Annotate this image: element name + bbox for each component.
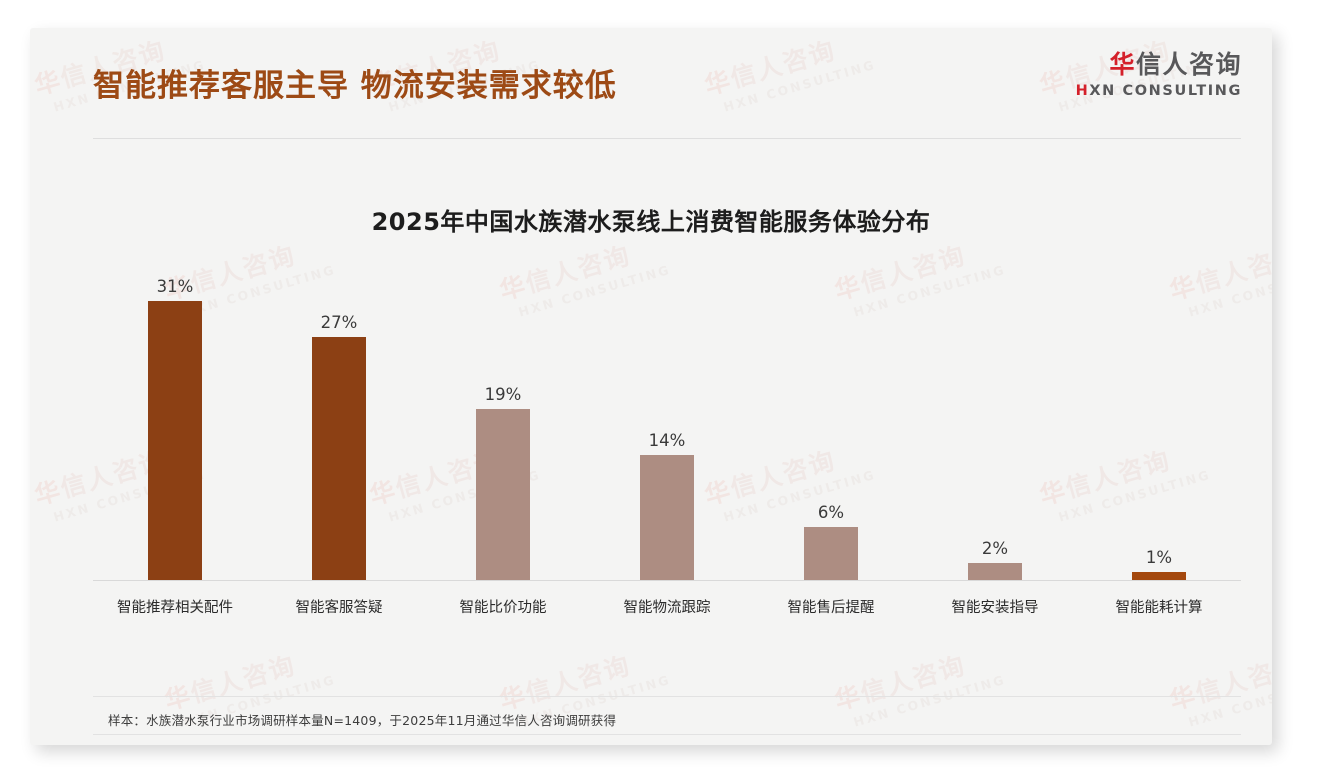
bar-value-label: 6%: [818, 503, 844, 522]
bar-value-label: 31%: [157, 277, 194, 296]
x-axis-tick-label: 智能安装指导: [952, 596, 1039, 617]
footnote-divider: [93, 696, 1241, 697]
logo-chinese: 华信人咨询: [1076, 52, 1242, 77]
x-axis-tick-label: 智能售后提醒: [788, 596, 875, 617]
header-divider: [93, 138, 1241, 139]
slide-footer: ©2026.1 HXR华信人咨询 www.hxrcon.com: [93, 740, 1241, 745]
chart-bar[interactable]: 6%: [804, 527, 858, 581]
x-axis-tick-label: 智能能耗计算: [1116, 596, 1203, 617]
bar-slot: 19%智能比价功能: [421, 274, 585, 581]
bar-slot: 6%智能售后提醒: [749, 274, 913, 581]
footer-divider: [93, 734, 1241, 735]
bar-chart: 31%智能推荐相关配件27%智能客服答疑19%智能比价功能14%智能物流跟踪6%…: [93, 274, 1241, 624]
chart-bar[interactable]: 19%: [476, 409, 530, 581]
bar-slot: 2%智能安装指导: [913, 274, 1077, 581]
bar-value-label: 14%: [649, 431, 686, 450]
chart-bar[interactable]: 31%: [148, 301, 202, 581]
chart-bar[interactable]: 27%: [312, 337, 366, 581]
bar-value-label: 19%: [485, 385, 522, 404]
bar-value-label: 2%: [982, 539, 1008, 558]
chart-title: 2025年中国水族潜水泵线上消费智能服务体验分布: [30, 202, 1272, 237]
bar-slot: 27%智能客服答疑: [257, 274, 421, 581]
sample-note: 样本：水族潜水泵行业市场调研样本量N=1409，于2025年11月通过华信人咨询…: [108, 710, 616, 729]
logo-cn-rest: 信人咨询: [1136, 50, 1242, 79]
slide-header: 智能推荐客服主导 物流安装需求较低 华信人咨询 HXN CONSULTING: [30, 28, 1272, 140]
page-title: 智能推荐客服主导 物流安装需求较低: [93, 60, 617, 105]
bar-value-label: 27%: [321, 313, 358, 332]
bar-slot: 31%智能推荐相关配件: [93, 274, 257, 581]
chart-bar[interactable]: 14%: [640, 455, 694, 581]
bar-slot: 1%智能能耗计算: [1077, 274, 1241, 581]
logo-en-highlight: H: [1076, 83, 1090, 99]
x-axis-line: [93, 580, 1241, 581]
slide-card: 华信人咨询HXN CONSULTING华信人咨询HXN CONSULTING华信…: [30, 28, 1272, 745]
brand-logo: 华信人咨询 HXN CONSULTING: [1076, 52, 1242, 99]
logo-english: HXN CONSULTING: [1076, 84, 1242, 99]
x-axis-tick-label: 智能比价功能: [460, 596, 547, 617]
chart-bar[interactable]: 2%: [968, 563, 1022, 581]
x-axis-tick-label: 智能客服答疑: [296, 596, 383, 617]
watermark-text: 华信人咨询HXN CONSULTING: [1165, 636, 1272, 733]
logo-cn-highlight: 华: [1109, 50, 1136, 79]
x-axis-tick-label: 智能物流跟踪: [624, 596, 711, 617]
chart-plot-area: 31%智能推荐相关配件27%智能客服答疑19%智能比价功能14%智能物流跟踪6%…: [93, 274, 1241, 581]
bar-series: 31%智能推荐相关配件27%智能客服答疑19%智能比价功能14%智能物流跟踪6%…: [93, 274, 1241, 581]
bar-value-label: 1%: [1146, 548, 1172, 567]
page-root: 华信人咨询HXN CONSULTING华信人咨询HXN CONSULTING华信…: [0, 0, 1340, 780]
x-axis-tick-label: 智能推荐相关配件: [117, 596, 233, 617]
bar-slot: 14%智能物流跟踪: [585, 274, 749, 581]
watermark-text: 华信人咨询HXN CONSULTING: [830, 636, 1007, 733]
logo-en-rest: XN CONSULTING: [1089, 83, 1242, 99]
